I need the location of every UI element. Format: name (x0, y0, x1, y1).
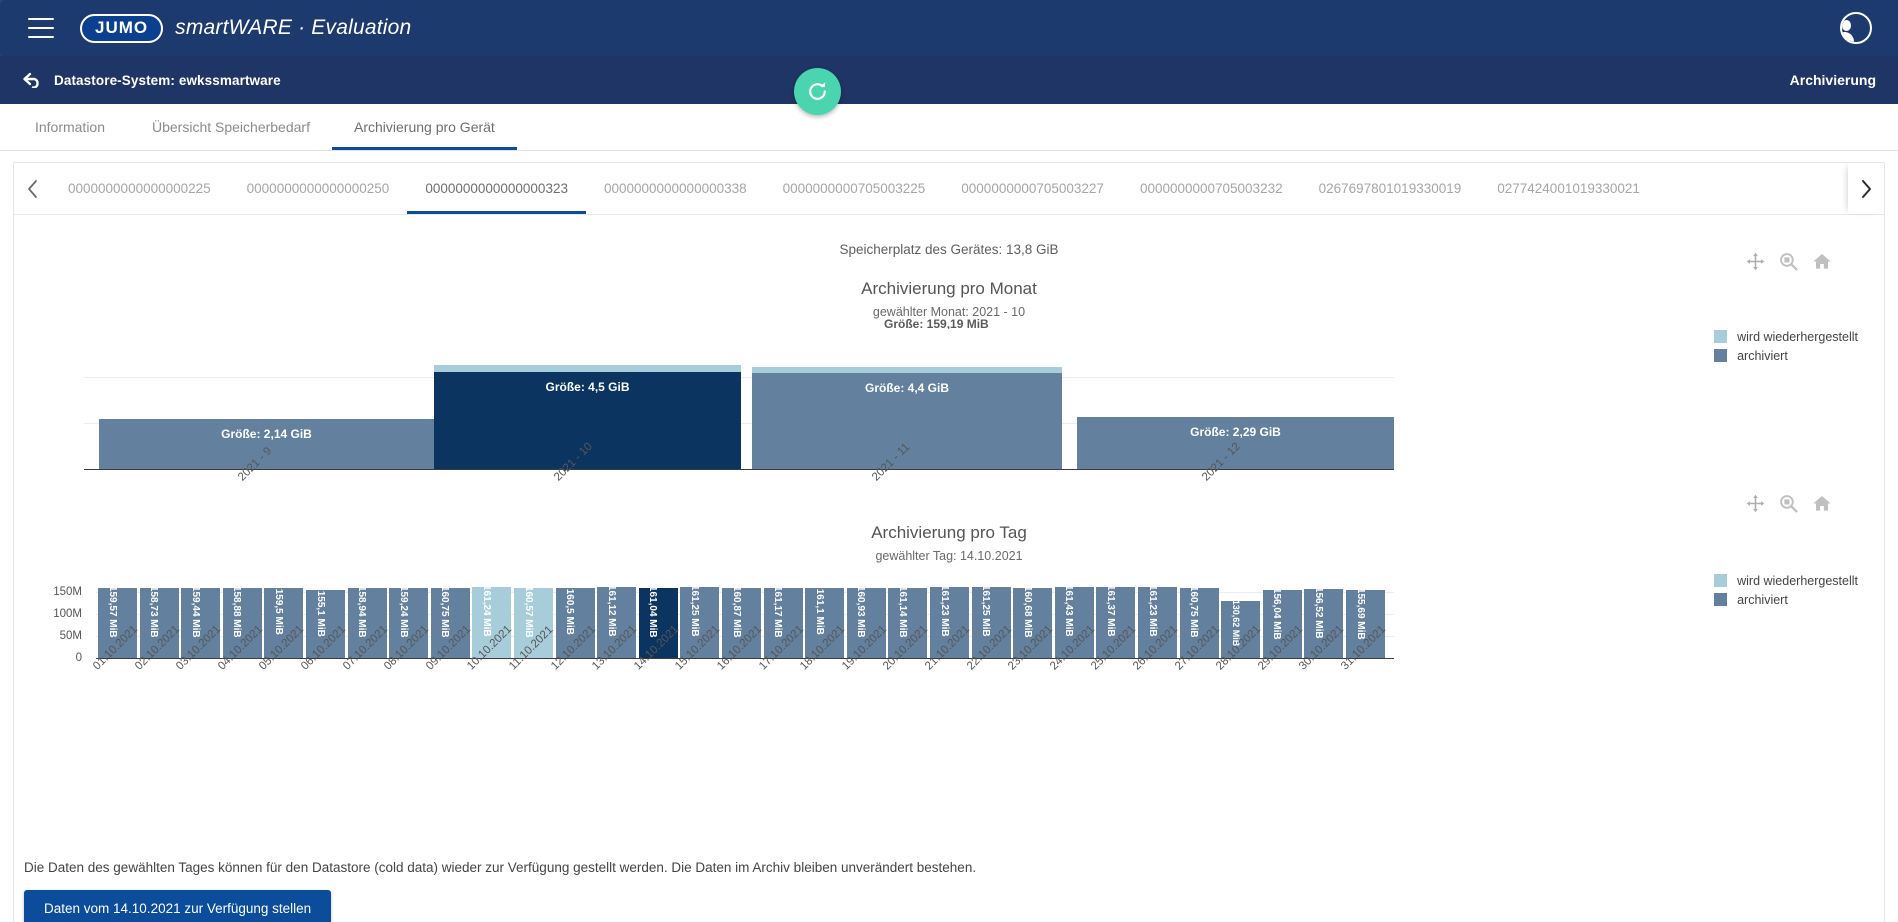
restore-info-text: Die Daten des gewählten Tages können für… (24, 860, 976, 875)
chevron-left-icon (26, 179, 39, 199)
device-tab-7[interactable]: 0267697801019330019 (1301, 163, 1480, 214)
app-header: JUMO smartWARE · Evaluation (0, 0, 1898, 56)
zoom-magnifier-icon[interactable] (1779, 252, 1798, 276)
device-tab-3[interactable]: 0000000000000000338 (586, 163, 765, 214)
monthly-bar-label-3: Größe: 2,29 GiB (1077, 425, 1394, 439)
brand: JUMO smartWARE · Evaluation (80, 14, 411, 43)
monthly-plot-area[interactable]: 4B 2B 0 Größe: 2,14 GiB Größe: 4,5 GiB G… (14, 319, 1884, 489)
device-tabs-next-button[interactable] (1848, 163, 1884, 214)
product-name: smartWARE · Evaluation (175, 16, 411, 40)
chevron-right-icon (1860, 179, 1873, 199)
tab-information[interactable]: Information (10, 104, 130, 150)
monthly-chart-title: Archivierung pro Monat (14, 279, 1884, 299)
daily-bar-label-22: Größe: 160,68 MiB (1022, 588, 1033, 638)
refresh-icon (805, 79, 830, 104)
daily-bar-label-25: Größe: 161,23 MiB (1147, 587, 1158, 637)
daily-bar-label-19: Größe: 161,14 MiB (897, 588, 908, 638)
daily-bar-label-2: Größe: 159,44 MiB (190, 588, 201, 638)
device-tab-5[interactable]: 0000000000705003227 (943, 163, 1122, 214)
device-storage-label: Speicherplatz des Gerätes: 13,8 GiB (14, 242, 1884, 257)
daily-bar-label-8: Größe: 160,75 MiB (439, 588, 450, 638)
user-avatar-icon[interactable] (1840, 12, 1872, 44)
device-tabs-prev-button[interactable] (14, 163, 50, 214)
daily-bar-label-20: Größe: 161,23 MiB (939, 587, 950, 637)
device-tab-4[interactable]: 0000000000705003225 (765, 163, 944, 214)
back-navigation[interactable]: Datastore-System: ewkssmartware (22, 72, 281, 88)
monthly-bar-label-0: Größe: 2,14 GiB (99, 427, 434, 441)
tab-archivierung-pro-geraet[interactable]: Archivierung pro Gerät (332, 104, 517, 150)
home-reset-icon[interactable] (1812, 494, 1832, 518)
monthly-bar-2021-9[interactable]: Größe: 2,14 GiB (99, 419, 434, 469)
content-card: 0000000000000000225 0000000000000000250 … (13, 162, 1885, 922)
daily-bar-label-16: Größe: 161,17 MiB (772, 588, 783, 638)
daily-plot-area[interactable]: 150M 100M 50M 0 Größe: 159,57 MiB Größe:… (14, 563, 1884, 733)
hamburger-menu-icon[interactable] (28, 18, 54, 38)
daily-bar-label-6: Größe: 158,94 MiB (356, 588, 367, 638)
daily-bar-label-17: Größe: 161,1 MiB (814, 588, 825, 635)
monthly-bar-label-1: Größe: 4,5 GiB (434, 380, 741, 394)
avatar-wrap (1840, 12, 1872, 44)
daily-bar-label-26: Größe: 160,75 MiB (1188, 588, 1199, 638)
daily-bar-label-0: Größe: 159,57 MiB (107, 588, 118, 638)
daily-bar-label-11: Größe: 160,5 MiB (564, 588, 575, 635)
monthly-bar-restored-cap-2 (752, 367, 1062, 373)
daily-chart-title: Archivierung pro Tag (14, 523, 1884, 543)
monthly-bar-restored-label-2: Größe: 159,19 MiB (884, 317, 1084, 329)
monthly-baseline (84, 469, 1394, 470)
zoom-magnifier-icon[interactable] (1779, 494, 1798, 518)
daily-bar-label-12: Größe: 161,12 MiB (606, 587, 617, 637)
daily-bar-label-3: Größe: 158,88 MiB (231, 588, 242, 638)
monthly-bar-label-2: Größe: 4,4 GiB (752, 381, 1062, 395)
daily-bar-label-30: Größe: 155,69 MiB (1355, 590, 1366, 640)
daily-bar-label-5: Größe: 155,1 MiB (315, 590, 326, 637)
refresh-button[interactable] (794, 68, 841, 115)
daily-bar-label-10: Größe: 160,57 MiB (523, 588, 534, 638)
daily-bar-label-14: Größe: 161,25 MiB (689, 587, 700, 637)
monthly-plot-tools (1746, 252, 1832, 276)
daily-ytick-100m: 100M (36, 608, 82, 620)
main-tabs: Information Übersicht Speicherbedarf Arc… (0, 104, 1898, 151)
daily-bar-label-23: Größe: 161,43 MiB (1063, 587, 1074, 637)
monthly-bar-restored-cap-1 (434, 365, 741, 372)
chart-archivierung-pro-tag: Archivierung pro Tag gewählter Tag: 14.1… (14, 523, 1884, 723)
daily-ytick-50m: 50M (36, 630, 82, 642)
back-arrow-icon (22, 72, 42, 88)
daily-bar-label-13: Größe: 161,04 MiB (647, 588, 658, 638)
daily-bar-label-9: Größe: 161,24 MiB (481, 587, 492, 637)
pan-move-icon[interactable] (1746, 252, 1765, 276)
home-reset-icon[interactable] (1812, 252, 1832, 276)
device-tab-list[interactable]: 0000000000000000225 0000000000000000250 … (50, 163, 1848, 214)
daily-chart-subtitle: gewählter Tag: 14.10.2021 (14, 549, 1884, 563)
device-tab-6[interactable]: 0000000000705003232 (1122, 163, 1301, 214)
daily-bar-label-24: Größe: 161,37 MiB (1105, 587, 1116, 637)
restore-data-button[interactable]: Daten vom 14.10.2021 zur Verfügung stell… (24, 890, 331, 922)
pan-move-icon[interactable] (1746, 494, 1765, 518)
device-tab-0[interactable]: 0000000000000000225 (50, 163, 229, 214)
daily-bar-label-21: Größe: 161,25 MiB (980, 587, 991, 637)
section-label: Archivierung (1790, 72, 1876, 88)
daily-bar-label-18: Größe: 160,93 MiB (855, 588, 866, 638)
daily-bar-label-4: Größe: 159,5 MiB (273, 588, 284, 635)
daily-ytick-150m: 150M (36, 586, 82, 598)
daily-bar-label-28: Größe: 156,04 MiB (1271, 590, 1282, 640)
device-tab-2[interactable]: 0000000000000000323 (407, 163, 586, 214)
daily-bar-label-1: Größe: 158,73 MiB (148, 588, 159, 638)
daily-bar-label-7: Größe: 159,24 MiB (398, 588, 409, 638)
device-tab-8[interactable]: 0277424001019330021 (1479, 163, 1658, 214)
datastore-system-title: Datastore-System: ewkssmartware (54, 73, 281, 88)
daily-plot-tools (1746, 494, 1832, 518)
daily-baseline (96, 658, 1394, 659)
daily-bar-label-29: Größe: 156,52 MiB (1313, 589, 1324, 639)
daily-ytick-0: 0 (36, 652, 82, 664)
daily-bar-label-15: Größe: 160,87 MiB (731, 588, 742, 638)
context-bar: Datastore-System: ewkssmartware Archivie… (0, 56, 1898, 104)
jumo-logo: JUMO (80, 14, 163, 43)
chart-archivierung-pro-monat: Archivierung pro Monat gewählter Monat: … (14, 279, 1884, 479)
device-tab-1[interactable]: 0000000000000000250 (229, 163, 408, 214)
device-tab-strip: 0000000000000000225 0000000000000000250 … (14, 163, 1884, 215)
tab-uebersicht-speicherbedarf[interactable]: Übersicht Speicherbedarf (130, 104, 332, 150)
